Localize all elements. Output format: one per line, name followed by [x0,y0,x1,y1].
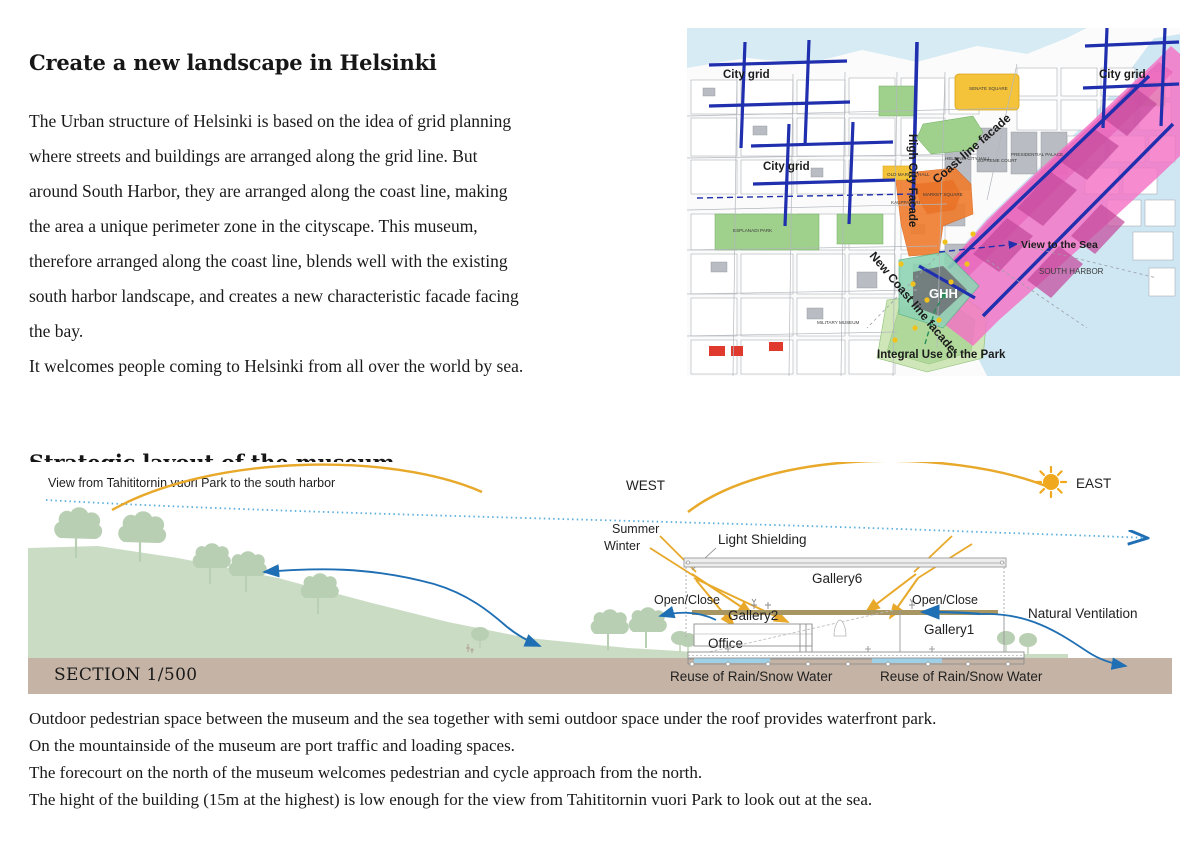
rainwater-tank-right [872,658,942,663]
intro-line: around South Harbor, they are arranged a… [29,174,649,209]
compass-label-east: EAST [1076,476,1111,491]
intro-line: therefore arranged along the coast line,… [29,244,649,279]
map-label-city-grid-3: City grid [1099,69,1146,81]
map-label-military-museum: MILITARY MUSEUM [817,320,860,325]
map-label-city-grid-2: City grid [763,161,810,173]
section-scale-label: SECTION 1/500 [54,665,198,685]
label-summer: Summer [612,522,659,536]
outro-line: Outdoor pedestrian space between the mus… [29,705,1179,732]
label-open-close-right: Open/Close [912,593,978,607]
intro-paragraph: The Urban structure of Helsinki is based… [29,104,649,384]
intro-line: south harbor landscape, and creates a ne… [29,279,649,314]
intro-line: It welcomes people coming to Helsinki fr… [29,349,649,384]
map-label-supreme-court: SUPREME COURT [977,158,1017,163]
map-label-city-grid-1: City grid [723,69,770,81]
intro-line: The Urban structure of Helsinki is based… [29,104,649,139]
outro-line: On the mountainside of the museum are po… [29,732,1179,759]
label-natural-ventilation: Natural Ventilation [1028,606,1138,621]
map-label-market-square: MARKET SQUARE [923,192,963,197]
map-label-kauppatori: KAUPPATORI [891,200,920,205]
map-label-presidential-palace: PRESIDENTIAL PALACE [1011,152,1063,157]
map-label-integral-use-of-the-park: Integral Use of the Park [877,349,1006,361]
intro-line: the area a unique perimeter zone in the … [29,209,649,244]
label-gallery6: Gallery6 [812,571,862,586]
map-label-view-to-the-sea: View to the Sea [1021,239,1098,251]
sun-icon [1036,467,1066,497]
map-label-south-harbor: SOUTH HARBOR [1039,267,1104,276]
building-section-diagram: View from Tahititornin vuori Park to the… [28,462,1172,694]
map-senate-square [955,74,1019,110]
label-reuse-water-right: Reuse of Rain/Snow Water [880,669,1043,684]
intro-line: where streets and buildings are arranged… [29,139,649,174]
map-label-esplanadi-park: ESPLANADI PARK [733,228,773,233]
page-title: Create a new landscape in Helsinki [29,50,437,75]
label-gallery1: Gallery1 [924,622,974,637]
outro-paragraph: Outdoor pedestrian space between the mus… [29,705,1179,813]
urban-context-map: City grid City grid City grid High City … [687,28,1180,376]
label-reuse-water-left: Reuse of Rain/Snow Water [670,669,833,684]
map-label-ghh: GHH [929,286,958,301]
label-light-shielding: Light Shielding [718,532,807,547]
label-gallery2: Gallery2 [728,608,778,623]
compass-label-west: WEST [626,478,665,493]
label-open-close-left: Open/Close [654,593,720,607]
outro-line: The hight of the building (15m at the hi… [29,786,1179,813]
presentation-board: Create a new landscape in Helsinki The U… [0,0,1200,841]
rainwater-tank-left [694,658,770,663]
label-winter: Winter [604,539,640,553]
map-label-high-city-facade: High City Facade [906,134,918,227]
map-label-old-market-hall: OLD MARKET HALL [887,172,930,177]
outro-line: The forecourt on the north of the museum… [29,759,1179,786]
map-label-senate-square: SENATE SQUARE [969,86,1008,91]
intro-line: the bay. [29,314,649,349]
